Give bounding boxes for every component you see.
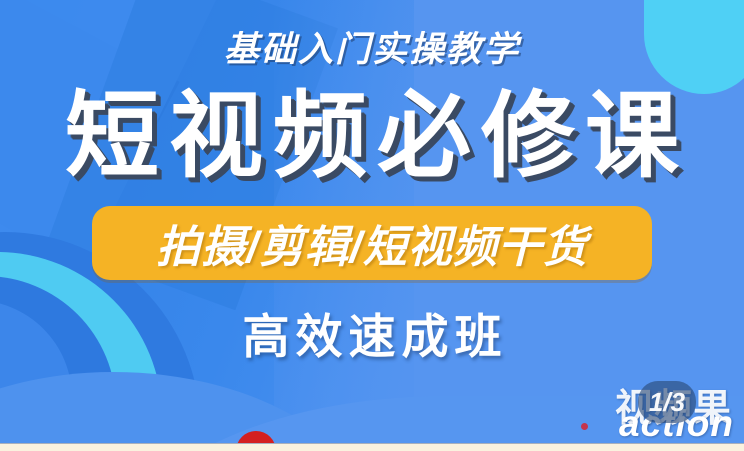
page-indicator-badge: 1/3 — [638, 381, 696, 423]
course-poster: 基础入门实操教学 短视频必修课 拍摄/剪辑/短视频干货 高效速成班 视频果 ac… — [0, 0, 744, 451]
headline-title: 短视频必修课 — [0, 84, 744, 188]
watermark-red-dot-icon — [581, 423, 588, 430]
ribbon-banner-label: 拍摄/剪辑/短视频干货 — [0, 206, 744, 280]
subtitle-text: 高效速成班 — [0, 298, 744, 367]
kicker-text: 基础入门实操教学 — [0, 21, 744, 72]
